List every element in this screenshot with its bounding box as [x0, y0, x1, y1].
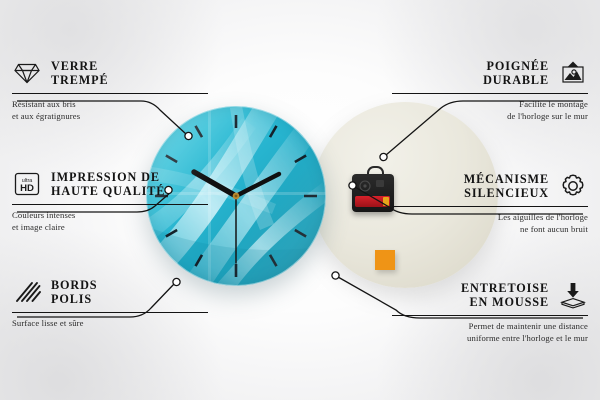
feature-impression-haute-qualite: ultra HD IMPRESSION DE HAUTE QUALITÉ Cou…	[12, 167, 208, 233]
picture-hanger-icon	[558, 58, 588, 88]
infographic-canvas: VERRE TREMPÉ Résistant aux bris et aux é…	[0, 0, 600, 400]
feature-divider	[392, 93, 588, 94]
feature-description: Facilite le montage de l'horloge sur le …	[392, 98, 588, 122]
feature-entretoise-en-mousse: ENTRETOISE EN MOUSSE Permet de maintenir…	[392, 278, 588, 344]
feature-divider	[12, 312, 208, 313]
feature-poignee-durable: POIGNÉE DURABLE Facilite le montage de l…	[392, 56, 588, 122]
feature-description: Les aiguilles de l'horloge ne font aucun…	[392, 211, 588, 235]
feature-divider	[392, 206, 588, 207]
feature-bords-polis: BORDS POLIS Surface lisse et sûre	[12, 275, 208, 329]
gear-icon	[558, 171, 588, 201]
feature-title: ENTRETOISE EN MOUSSE	[461, 281, 549, 310]
svg-text:HD: HD	[20, 183, 34, 194]
polished-edges-icon	[12, 277, 42, 307]
feature-title: BORDS POLIS	[51, 278, 98, 307]
feature-divider	[392, 315, 588, 316]
feature-description: Permet de maintenir une distance uniform…	[392, 320, 588, 344]
feature-divider	[12, 93, 208, 94]
diamond-icon	[12, 58, 42, 88]
feature-verre-trempe: VERRE TREMPÉ Résistant aux bris et aux é…	[12, 56, 208, 122]
feature-description: Résistant aux bris et aux égratignures	[12, 98, 208, 122]
feature-title: IMPRESSION DE HAUTE QUALITÉ	[51, 170, 165, 199]
ultra-hd-icon: ultra HD	[12, 169, 42, 199]
feature-mecanisme-silencieux: MÉCANISME SILENCIEUX Les aiguilles de l'…	[392, 169, 588, 235]
feature-description: Surface lisse et sûre	[12, 317, 208, 329]
feature-description: Couleurs intenses et image claire	[12, 209, 208, 233]
feature-title: POIGNÉE DURABLE	[483, 59, 549, 88]
feature-title: MÉCANISME SILENCIEUX	[464, 172, 549, 201]
feature-title: VERRE TREMPÉ	[51, 59, 109, 88]
foam-spacer-icon	[558, 280, 588, 310]
feature-divider	[12, 204, 208, 205]
